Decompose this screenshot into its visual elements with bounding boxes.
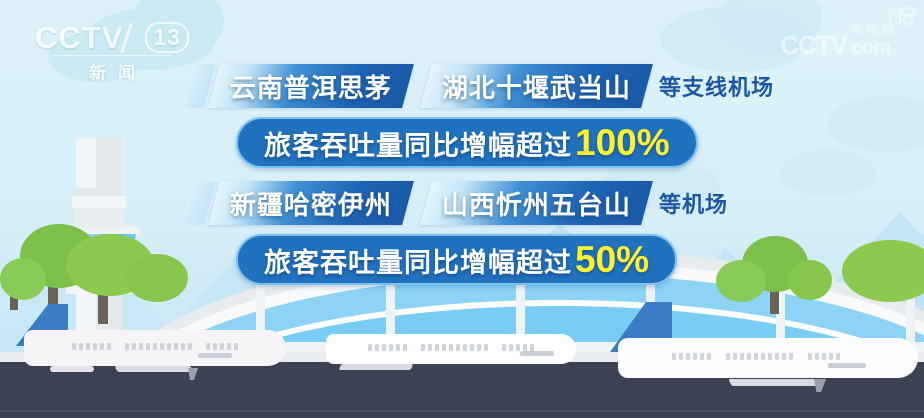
statement-pill-2[interactable]: 旅客吞吐量同比增幅超过 50% [236, 234, 677, 285]
statement-label: 旅客吞吐量同比增幅超过 [264, 241, 572, 280]
tarmac-marking [0, 410, 924, 412]
picture-in-picture-icon[interactable] [889, 7, 915, 25]
chip-2-1[interactable]: 新疆哈密伊州 [208, 181, 414, 225]
chip-label: 云南普洱思茅 [230, 68, 392, 105]
statement-label: 旅客吞吐量同比增幅超过 [264, 124, 572, 163]
statement-text-1: 旅客吞吐量同比增幅超过 100% [264, 122, 670, 164]
broadcast-graphic-scene: CCTV 13 新闻 CCTV 央视网 com [0, 0, 924, 418]
chip-2-2[interactable]: 山西忻州五台山 [420, 181, 653, 225]
chip-row-2: 新疆哈密伊州 山西忻州五台山 等机场 [190, 181, 728, 225]
statement-text-2: 旅客吞吐量同比增幅超过 50% [264, 239, 649, 281]
chip-label: 新疆哈密伊州 [230, 185, 392, 222]
chip-label: 山西忻州五台山 [442, 185, 631, 222]
chip-row-1-tail-text: 等支线机场 [659, 70, 774, 102]
chip-label: 湖北十堰武当山 [442, 68, 631, 105]
airplane-left [10, 304, 300, 380]
statement-pill-1[interactable]: 旅客吞吐量同比增幅超过 100% [236, 117, 698, 168]
airplane-right [600, 300, 924, 392]
chip-1-2[interactable]: 湖北十堰武当山 [420, 64, 653, 108]
statement-value: 100% [575, 122, 670, 164]
cctv-com-suffix: com [851, 38, 891, 58]
statement-value: 50% [575, 239, 649, 281]
chip-1-1[interactable]: 云南普洱思茅 [208, 64, 414, 108]
cctv-com-chinese: 央视网 [851, 24, 896, 37]
chip-row-2-tail-text: 等机场 [659, 187, 728, 219]
airplane-center [318, 312, 588, 374]
chip-row-1: 云南普洱思茅 湖北十堰武当山 等支线机场 [190, 64, 774, 108]
